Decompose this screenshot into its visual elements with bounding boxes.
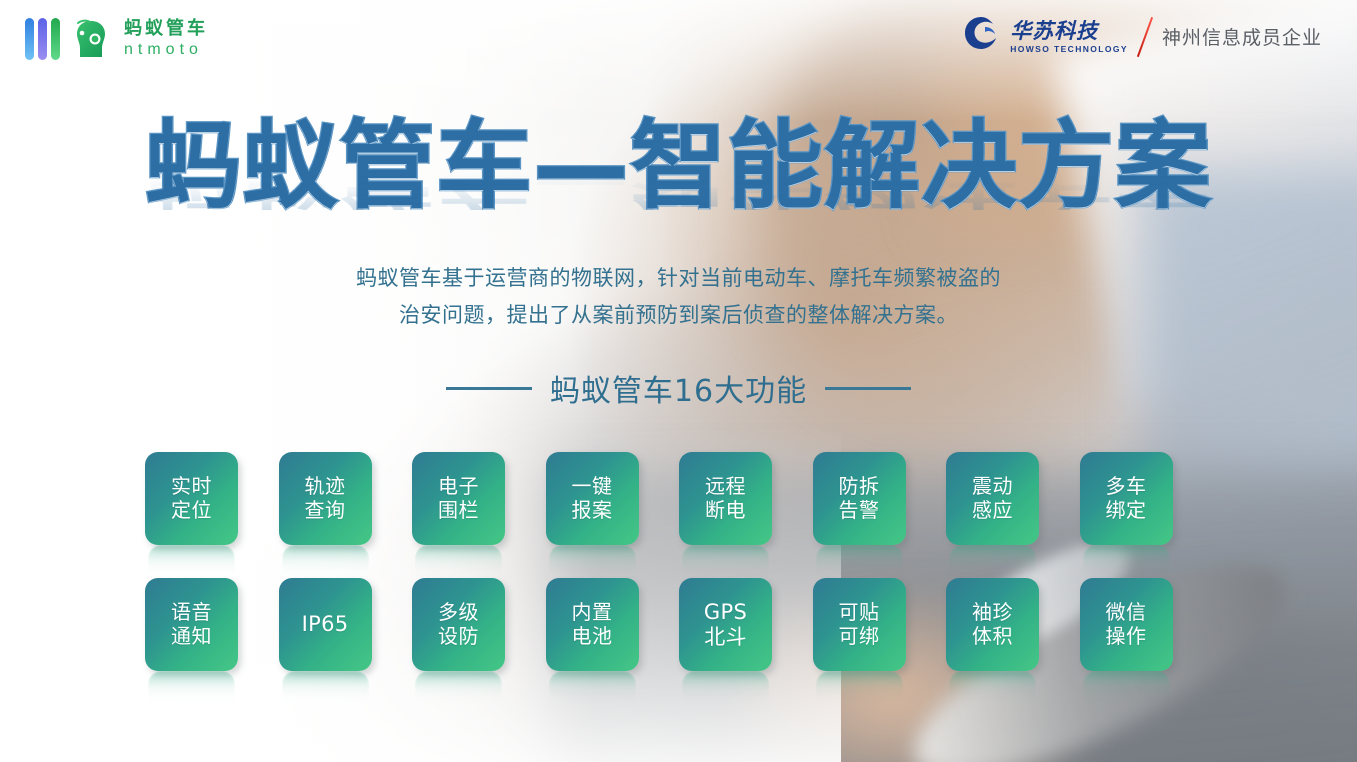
feature-tile-label: IP65 [302,612,349,637]
feature-tile-remote-power-cut[interactable]: 远程 断电 [679,452,772,545]
feature-tile-label: 多车 绑定 [1106,475,1147,522]
feature-tile-label: 一键 报案 [572,475,613,522]
section-heading-text: 蚂蚁管车16大功能 [550,366,807,410]
feature-tile-label: 实时 定位 [171,475,212,522]
three-bars-icon [25,18,60,60]
feature-tile-label: 远程 断电 [705,475,746,522]
feature-tile-realtime-location[interactable]: 实时 定位 [145,452,238,545]
feature-tile-label: 轨迹 查询 [305,475,346,522]
feature-tile-label: 防拆 告警 [839,475,880,522]
feature-tile-ip65-rating[interactable]: IP65 [279,578,372,671]
howso-name-en: HOWSO TECHNOLOGY [1010,45,1128,54]
page-title-reflection: 蚂蚁管车—智能解决方案 [145,160,1212,210]
feature-tile-grid: 实时 定位轨迹 查询电子 围栏一键 报案远程 断电防拆 告警震动 感应多车 绑定… [145,452,1207,671]
hero-subtitle: 蚂蚁管车基于运营商的物联网，针对当前电动车、摩托车频繁被盗的 治安问题，提出了从… [0,260,1357,334]
feature-tile-voice-notice[interactable]: 语音 通知 [145,578,238,671]
bar-blue-icon [25,18,34,60]
feature-tile-label: 可贴 可绑 [839,601,880,648]
bar-green-icon [51,18,60,60]
feature-tile-stick-or-strap[interactable]: 可贴 可绑 [813,578,906,671]
feature-tile-label: 袖珍 体积 [972,601,1013,648]
feature-tile-multi-vehicle-binding[interactable]: 多车 绑定 [1080,452,1173,545]
feature-tile-label: GPS 北斗 [704,600,747,650]
partner-logo-howso[interactable]: 华苏科技 HOWSO TECHNOLOGY 神州信息成员企业 [961,14,1322,59]
feature-tile-wechat-control[interactable]: 微信 操作 [1080,578,1173,671]
feature-tile-label: 微信 操作 [1106,601,1147,648]
red-slash-icon [1137,16,1153,56]
feature-tile-built-in-battery[interactable]: 内置 电池 [546,578,639,671]
feature-tile-vibration-sensing[interactable]: 震动 感应 [946,452,1039,545]
ant-mark-icon [69,17,115,61]
bar-purple-icon [38,18,47,60]
heading-rule-right-icon [825,387,911,390]
subtitle-line-2: 治安问题，提出了从案前预防到案后侦查的整体解决方案。 [0,297,1357,334]
feature-tile-gps-beidou[interactable]: GPS 北斗 [679,578,772,671]
howso-name-cn: 华苏科技 [1010,20,1128,41]
feature-tile-geo-fence[interactable]: 电子 围栏 [412,452,505,545]
howso-swirl-icon [961,14,1003,59]
feature-tile-label: 电子 围栏 [438,475,479,522]
brand-name-en: ntmoto [124,42,208,58]
subtitle-line-1: 蚂蚁管车基于运营商的物联网，针对当前电动车、摩托车频繁被盗的 [0,260,1357,297]
howso-logo: 华苏科技 HOWSO TECHNOLOGY [961,14,1128,59]
feature-tile-label: 多级 设防 [438,601,479,648]
slide-canvas: 蚂蚁管车 ntmoto 华苏科技 HOWSO TECHNOLOGY 神州信息成员… [0,0,1357,762]
brand-logo-ntmoto[interactable]: 蚂蚁管车 ntmoto [25,17,208,61]
brand-text: 蚂蚁管车 ntmoto [124,20,208,58]
feature-tile-label: 震动 感应 [972,475,1013,522]
howso-text: 华苏科技 HOWSO TECHNOLOGY [1010,20,1128,54]
feature-tile-pocket-size[interactable]: 袖珍 体积 [946,578,1039,671]
brand-name-cn: 蚂蚁管车 [124,20,208,38]
feature-tile-tamper-alarm[interactable]: 防拆 告警 [813,452,906,545]
feature-tile-multi-level-defense[interactable]: 多级 设防 [412,578,505,671]
feature-tile-one-key-report[interactable]: 一键 报案 [546,452,639,545]
feature-tile-track-query[interactable]: 轨迹 查询 [279,452,372,545]
section-heading: 蚂蚁管车16大功能 [0,366,1357,410]
heading-rule-left-icon [446,387,532,390]
page-header: 蚂蚁管车 ntmoto 华苏科技 HOWSO TECHNOLOGY 神州信息成员… [0,0,1357,80]
partner-label: 神州信息成员企业 [1162,23,1322,50]
feature-tile-label: 内置 电池 [572,601,613,648]
feature-tile-label: 语音 通知 [171,601,212,648]
